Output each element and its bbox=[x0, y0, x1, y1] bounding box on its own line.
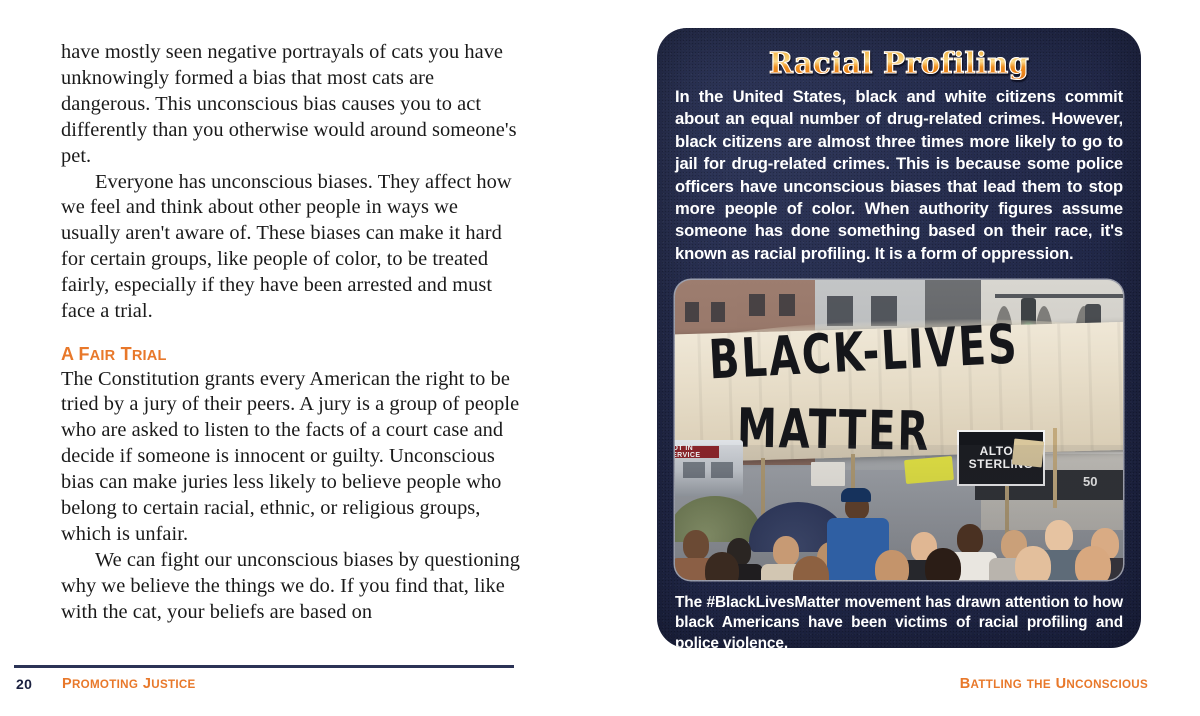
factbox-body-bold-term: racial profiling bbox=[754, 244, 866, 263]
factbox-title: Racial Profiling bbox=[657, 46, 1141, 80]
protest-photograph: ↑ BLACK-LIVES MATTER NOT IN SERVICE bbox=[675, 280, 1123, 580]
left-page-text-column: have mostly seen negative portrayals of … bbox=[61, 40, 521, 626]
protester-head-foreground bbox=[1015, 546, 1051, 580]
right-page: Racial Profiling In the United States, b… bbox=[600, 0, 1200, 716]
body-paragraph: The Constitution grants every American t… bbox=[61, 367, 521, 548]
book-page-spread: have mostly seen negative portrayals of … bbox=[0, 0, 1200, 716]
body-paragraph: Everyone has unconscious biases. They af… bbox=[61, 170, 521, 325]
body-paragraph: have mostly seen negative portrayals of … bbox=[61, 40, 521, 170]
running-head-left: PROMOTING JUSTICE bbox=[62, 675, 196, 693]
racial-profiling-factbox: Racial Profiling In the United States, b… bbox=[657, 28, 1141, 648]
traffic-pole-horizontal bbox=[995, 294, 1123, 298]
protester-head bbox=[957, 524, 983, 554]
protest-photo-frame: ↑ BLACK-LIVES MATTER NOT IN SERVICE bbox=[675, 280, 1123, 580]
section-heading-text: A bbox=[61, 344, 74, 364]
protester-head-foreground bbox=[875, 550, 909, 580]
factbox-body-part2: . It is a form of oppression. bbox=[866, 244, 1074, 263]
factbox-body-part1: In the United States, black and white ci… bbox=[675, 87, 1123, 263]
protester-head-foreground bbox=[925, 548, 961, 580]
window bbox=[779, 294, 795, 316]
police-cap bbox=[841, 488, 871, 502]
footer-rule bbox=[14, 665, 514, 668]
page-number-left: 20 bbox=[16, 676, 32, 692]
photo-caption: The #BlackLivesMatter movement has drawn… bbox=[675, 593, 1123, 648]
factbox-body: In the United States, black and white ci… bbox=[675, 86, 1123, 265]
protester-head-foreground bbox=[705, 552, 739, 580]
body-paragraph: We can fight our unconscious biases by q… bbox=[61, 548, 521, 626]
window bbox=[711, 302, 725, 322]
section-heading: A FAIR TRIAL bbox=[61, 345, 521, 364]
window bbox=[685, 302, 699, 322]
running-head-right: BATTLING THE UNCONSCIOUS bbox=[960, 675, 1148, 693]
window bbox=[749, 294, 765, 316]
left-page: have mostly seen negative portrayals of … bbox=[0, 0, 600, 716]
protester-head-foreground bbox=[1075, 546, 1111, 580]
protester-head bbox=[683, 530, 709, 560]
protester-head bbox=[1045, 520, 1073, 552]
protester-head bbox=[773, 536, 799, 566]
